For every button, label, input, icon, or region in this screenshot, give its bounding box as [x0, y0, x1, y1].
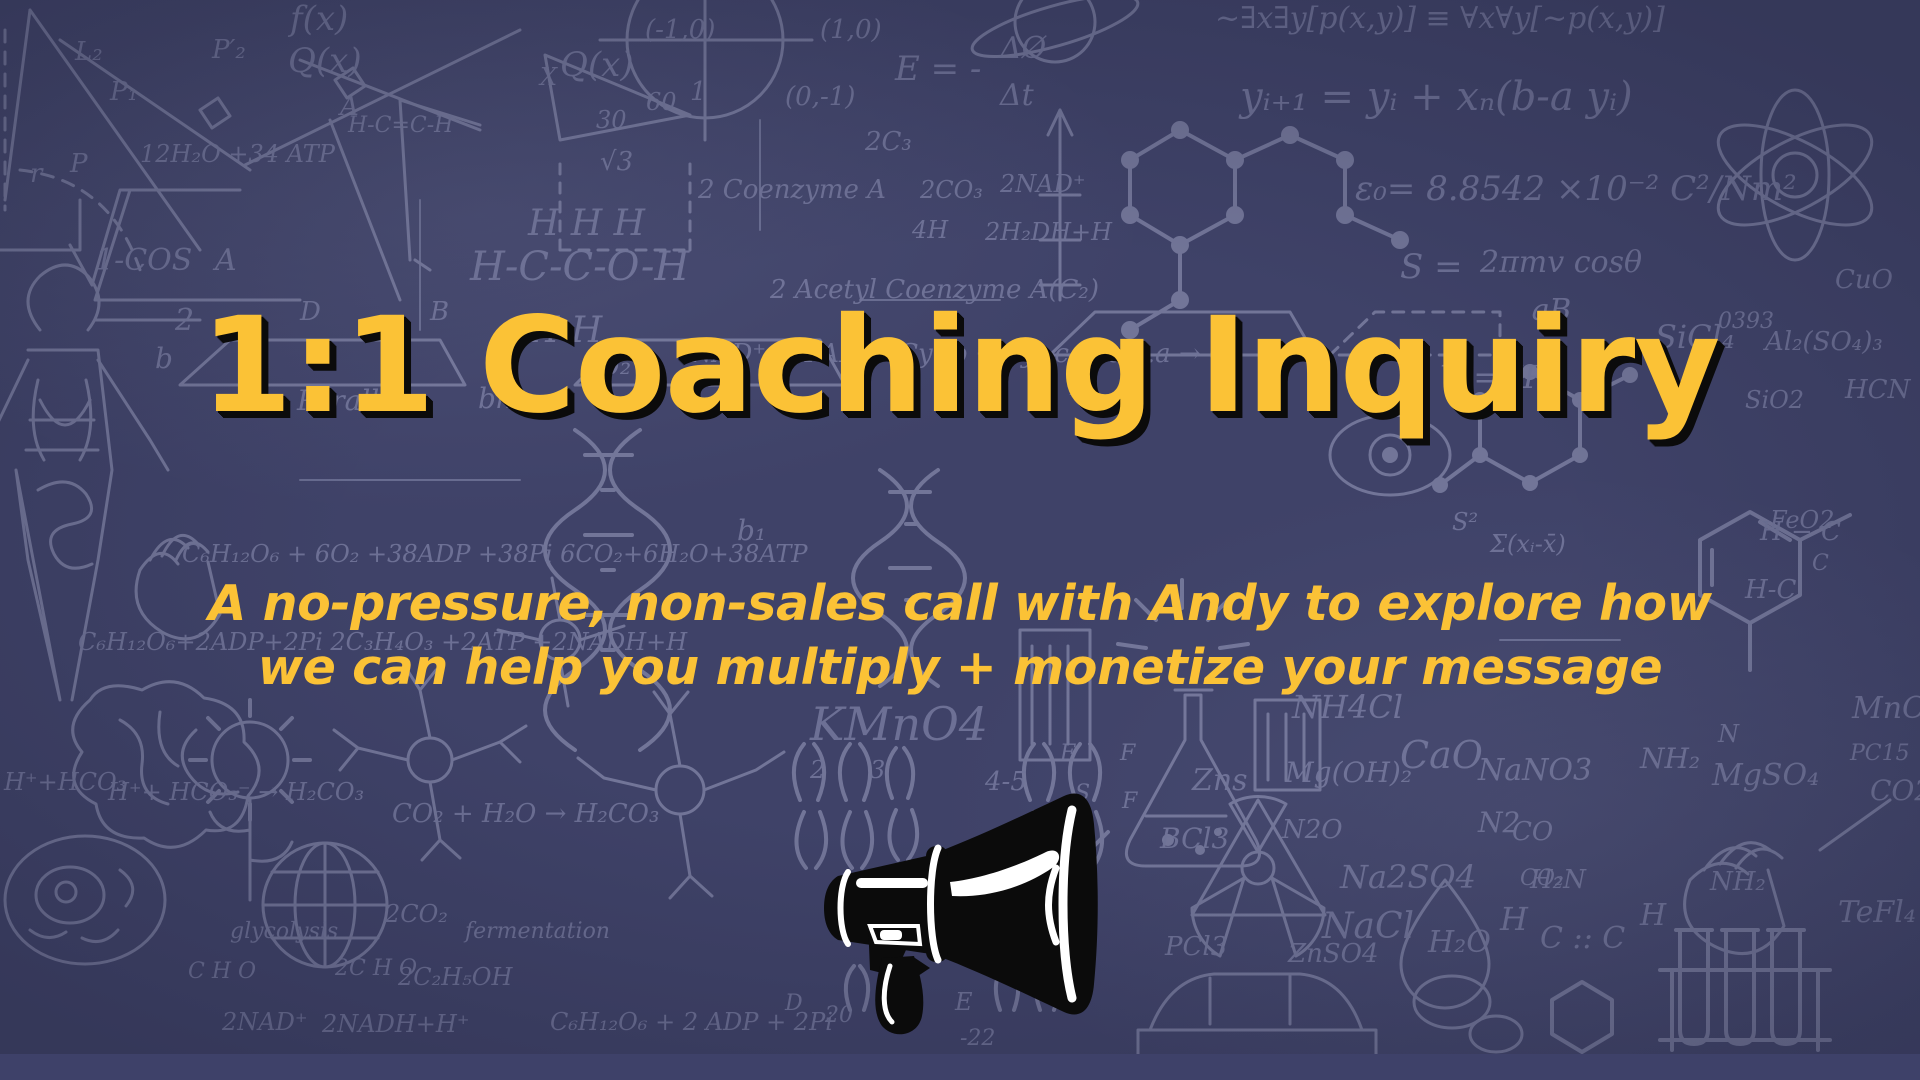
svg-text:1-COS: 1-COS: [95, 243, 192, 278]
svg-text:r: r: [30, 159, 44, 189]
svg-text:H-C-C-O-H: H-C-C-O-H: [469, 244, 690, 290]
svg-text:√3: √3: [600, 147, 633, 177]
svg-text:Δt: Δt: [999, 78, 1035, 113]
headline-container: 1:1 Coaching Inquiry: [0, 300, 1920, 432]
svg-text:H H H: H H H: [527, 203, 646, 244]
svg-text:ε₀= 8.8542 ×10⁻² C²/Nm²: ε₀= 8.8542 ×10⁻² C²/Nm²: [1355, 169, 1797, 209]
svg-text:H₂O: H₂O: [1427, 925, 1491, 960]
svg-text:C H O: C H O: [188, 959, 256, 984]
svg-text:60: 60: [646, 88, 677, 116]
svg-text:ΔØ: ΔØ: [999, 31, 1048, 66]
svg-text:2 Coenzyme A: 2 Coenzyme A: [697, 175, 886, 205]
svg-text:F: F: [1121, 789, 1138, 814]
svg-text:TeFl₄: TeFl₄: [1838, 895, 1916, 930]
svg-text:glycolysis: glycolysis: [230, 919, 338, 944]
svg-text:ZnSO4: ZnSO4: [1287, 939, 1378, 969]
svg-text:CaO: CaO: [1400, 733, 1483, 777]
svg-text:2NAD⁺: 2NAD⁺: [221, 1008, 308, 1036]
svg-text:30: 30: [596, 106, 627, 134]
svg-text:CO₂: CO₂: [1520, 866, 1564, 891]
svg-text:2H₂DH+H: 2H₂DH+H: [984, 218, 1113, 246]
svg-text:~∃x∃y[p(x,y)] ≡ ∀x∀y[~p(x,y)]: ~∃x∃y[p(x,y)] ≡ ∀x∀y[~p(x,y)]: [1215, 1, 1665, 36]
svg-text:H⁺+ HCO₃⁻ → H₂CO₃: H⁺+ HCO₃⁻ → H₂CO₃: [107, 778, 364, 806]
svg-text:(-1,0): (-1,0): [645, 15, 715, 45]
svg-text:P′₂: P′₂: [211, 35, 246, 65]
svg-text:S²: S²: [1452, 508, 1478, 536]
svg-text:f(x): f(x): [287, 0, 348, 39]
svg-text:NaNO3: NaNO3: [1477, 753, 1592, 788]
svg-text:A: A: [212, 243, 237, 278]
svg-text:CO2: CO2: [1870, 774, 1920, 807]
bottom-bar: [0, 1054, 1920, 1080]
svg-text:Q(x): Q(x): [288, 41, 362, 81]
svg-text:N2O: N2O: [1281, 815, 1343, 845]
svg-text:N: N: [1717, 720, 1740, 748]
svg-text:PCl3: PCl3: [1164, 932, 1227, 962]
svg-text:H: H: [1639, 898, 1667, 933]
svg-text:CO: CO: [1512, 817, 1553, 847]
subtitle-line-1: A no-pressure, non-sales call with Andy …: [0, 572, 1920, 636]
svg-text:2NAD⁺: 2NAD⁺: [999, 170, 1086, 198]
svg-text:F: F: [1119, 741, 1136, 766]
svg-text:3: 3: [870, 756, 885, 784]
svg-text:BCl3: BCl3: [1159, 822, 1229, 855]
svg-text:P₁: P₁: [109, 77, 138, 107]
svg-text:NH₂: NH₂: [1639, 742, 1700, 775]
svg-text:D: D: [784, 991, 803, 1016]
svg-text:1: 1: [690, 77, 707, 107]
subtitle-container: A no-pressure, non-sales call with Andy …: [0, 572, 1920, 700]
svg-text:H-C=C-H: H-C=C-H: [347, 113, 454, 138]
svg-text:C :: C: C :: C: [1540, 921, 1625, 956]
svg-text:Q(x): Q(x): [560, 45, 634, 85]
svg-text:2: 2: [809, 756, 825, 784]
svg-text:(0,-1): (0,-1): [785, 82, 855, 112]
svg-text:12H₂O +34 ATP: 12H₂O +34 ATP: [140, 140, 336, 168]
svg-text:yᵢ₊₁ = yᵢ + xₙ(b-a yᵢ): yᵢ₊₁ = yᵢ + xₙ(b-a yᵢ): [1238, 74, 1633, 120]
svg-text:CuO: CuO: [1835, 265, 1893, 295]
slide-canvas: f(x) Q(x) Q(x) (-1,0) (1,0) (0,-1) E = -…: [0, 0, 1920, 1080]
svg-text:Zns: Zns: [1191, 763, 1248, 798]
svg-text:L₂: L₂: [74, 37, 103, 67]
svg-text:S =: S =: [1400, 247, 1463, 287]
svg-text:fermentation: fermentation: [463, 919, 610, 944]
svg-text:X: X: [538, 63, 558, 91]
svg-text:C₆H₁₂O₆ + 6O₂ +38ADP +38Pi 6: C₆H₁₂O₆ + 6O₂ +38ADP +38Pi 6CO₂+6H₂O+38A…: [182, 540, 808, 568]
svg-text:CO₂ + H₂O → H₂CO₃: CO₂ + H₂O → H₂CO₃: [392, 799, 659, 829]
svg-text:PC15: PC15: [1849, 741, 1910, 766]
svg-text:F: F: [1059, 741, 1076, 766]
svg-text:NH₂: NH₂: [1709, 867, 1766, 897]
page-title: 1:1 Coaching Inquiry: [201, 300, 1720, 432]
subtitle-line-2: we can help you multiply + monetize your…: [0, 636, 1920, 700]
svg-text:2CO₂: 2CO₂: [384, 900, 448, 928]
svg-text:4H: 4H: [911, 216, 949, 244]
svg-text:P: P: [69, 149, 88, 179]
svg-text:2NADH+H⁺: 2NADH+H⁺: [321, 1010, 469, 1038]
svg-text:2C H O: 2C H O: [334, 956, 417, 981]
megaphone-icon: [820, 790, 1110, 1040]
svg-text:Σ(xᵢ-x̄): Σ(xᵢ-x̄): [1489, 530, 1566, 558]
svg-text:H: H: [1499, 900, 1529, 938]
svg-text:2CO₃: 2CO₃: [919, 176, 983, 204]
svg-text:(1,0): (1,0): [820, 15, 882, 45]
svg-text:Mg(OH)₂: Mg(OH)₂: [1284, 756, 1412, 789]
svg-text:MgSO₄: MgSO₄: [1711, 758, 1819, 793]
svg-text:Na2SO4: Na2SO4: [1339, 858, 1476, 896]
svg-text:E = -: E = -: [894, 49, 981, 89]
svg-text:2C₃: 2C₃: [864, 127, 912, 157]
svg-text:H − C: H − C: [1759, 517, 1841, 547]
svg-text:KMnO4: KMnO4: [809, 697, 988, 751]
svg-text:2πmv cosθ: 2πmv cosθ: [1479, 245, 1642, 280]
